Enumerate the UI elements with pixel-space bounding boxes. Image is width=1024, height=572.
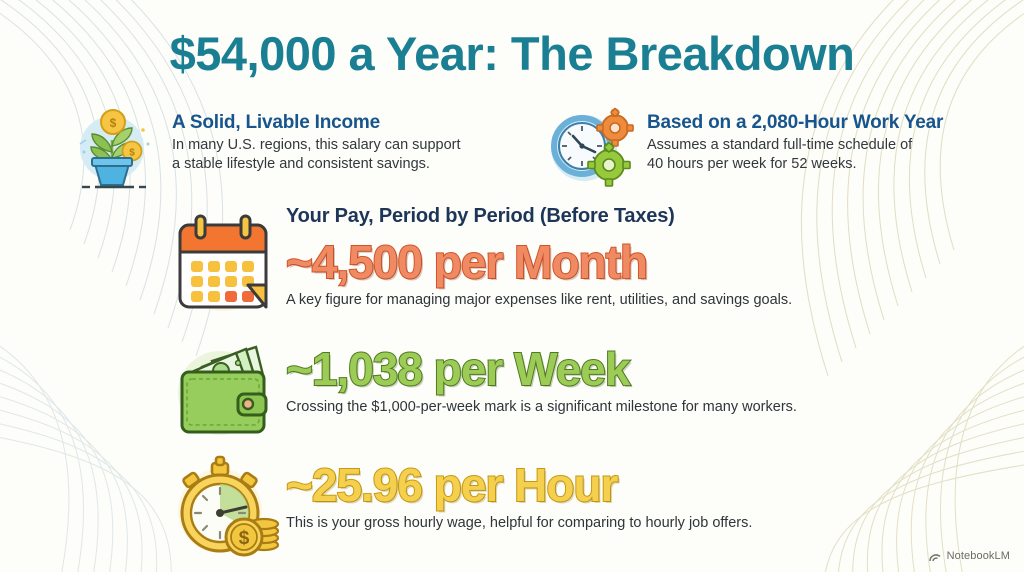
pay-row-month: ~4,500 per Month A key figure for managi… (160, 205, 1020, 333)
svg-text:$: $ (129, 148, 135, 159)
card-desc-line1: Assumes a standard full-time schedule of (647, 136, 943, 155)
top-cards-container: $ $ A Solid, Livable Income In (62, 100, 982, 192)
desc-per-week: Crossing the $1,000-per-week mark is a s… (286, 399, 797, 415)
money-plant-icon: $ $ (62, 100, 162, 192)
watermark-label: NotebookLM (947, 550, 1010, 562)
calendar-icon (160, 207, 286, 319)
desc-per-month: A key figure for managing major expenses… (286, 292, 792, 308)
stopwatch-coins-icon: $ (160, 453, 286, 565)
card-title: A Solid, Livable Income (172, 112, 461, 134)
amount-per-hour: ~25.96 per Hour (286, 461, 752, 511)
page-title: $54,000 a Year: The Breakdown (0, 26, 1024, 81)
row-body-week: ~1,038 per Week Crossing the $1,000-per-… (286, 333, 797, 415)
card-work-year: Based on a 2,080-Hour Work Year Assumes … (537, 100, 982, 192)
svg-text:$: $ (110, 116, 117, 130)
card-title: Based on a 2,080-Hour Work Year (647, 112, 943, 134)
notebooklm-watermark: NotebookLM (929, 550, 1010, 562)
wallet-icon (160, 335, 286, 447)
infographic-canvas: $54,000 a Year: The Breakdown $ $ (0, 0, 1024, 572)
card-text-work-year: Based on a 2,080-Hour Work Year Assumes … (647, 100, 943, 174)
desc-per-hour: This is your gross hourly wage, helpful … (286, 515, 752, 531)
pay-rows-container: ~4,500 per Month A key figure for managi… (160, 205, 1020, 571)
card-desc-line2: a stable lifestyle and consistent saving… (172, 155, 461, 174)
amount-per-week: ~1,038 per Week (286, 345, 797, 395)
card-text-livable-income: A Solid, Livable Income In many U.S. reg… (172, 100, 461, 174)
amount-per-month: ~4,500 per Month (286, 238, 792, 288)
row-body-hour: ~25.96 per Hour This is your gross hourl… (286, 451, 752, 531)
pay-row-week: ~1,038 per Week Crossing the $1,000-per-… (160, 333, 1020, 451)
row-body-month: ~4,500 per Month A key figure for managi… (286, 205, 792, 308)
pay-row-hour: $ ~25.96 per Hour This is your gross hou… (160, 451, 1020, 571)
notebooklm-logo-icon (929, 551, 942, 562)
card-desc-line2: 40 hours per week for 52 weeks. (647, 155, 943, 174)
svg-text:$: $ (239, 528, 250, 549)
card-desc-line1: In many U.S. regions, this salary can su… (172, 136, 461, 155)
card-livable-income: $ $ A Solid, Livable Income In (62, 100, 507, 192)
clock-gears-icon (537, 100, 637, 192)
